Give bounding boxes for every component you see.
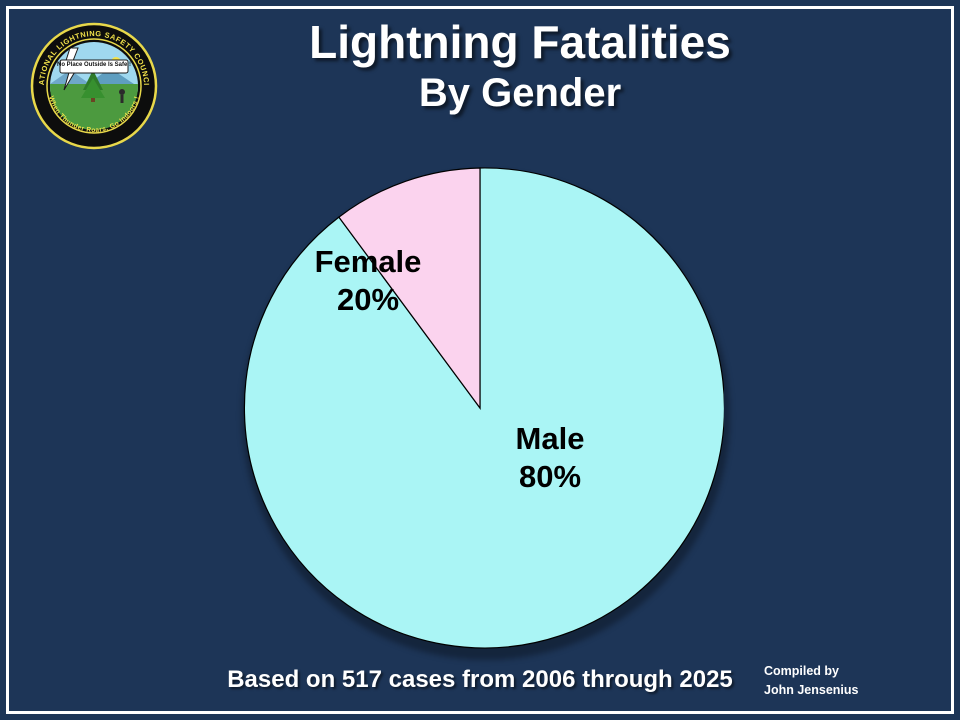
pie-chart-svg [236,164,724,652]
page-subtitle: By Gender [150,70,890,116]
pie-slice-male[interactable] [244,168,724,648]
pie-chart [236,164,724,652]
pie-label-female: Female 20% [268,243,468,319]
credit-line2: John Jensenius [764,681,934,700]
pie-label-female-value: 20% [268,281,468,319]
logo-banner: No Place Outside Is Safe ! [57,60,131,73]
pie-label-male-value: 80% [450,458,650,496]
pie-label-male-name: Male [450,420,650,458]
national-lightning-safety-council-logo: No Place Outside Is Safe ! NATIONAL LIGH… [30,22,158,150]
credit-block: Compiled by John Jensenius [764,662,934,700]
page-title: Lightning Fatalities [150,18,890,66]
pie-label-male: Male 80% [450,420,650,496]
pie-label-female-name: Female [268,243,468,281]
logo-icon: No Place Outside Is Safe ! NATIONAL LIGH… [30,22,158,150]
slide-canvas: No Place Outside Is Safe ! NATIONAL LIGH… [0,0,960,720]
logo-banner-line1: No Place Outside Is Safe ! [57,62,131,68]
credit-line1: Compiled by [764,662,934,681]
title-block: Lightning Fatalities By Gender [150,18,890,116]
